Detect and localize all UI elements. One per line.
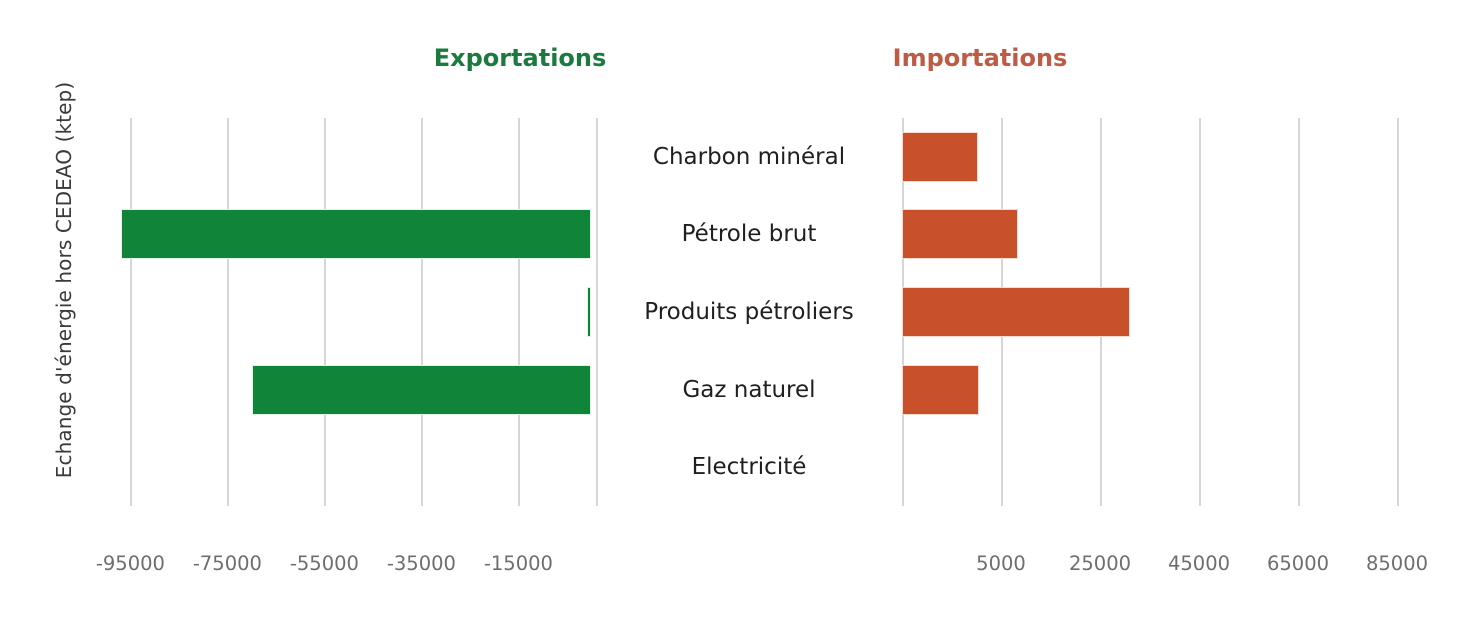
bar [902,132,978,182]
bar-row [111,273,596,351]
axis-tick-label: 85000 [1366,552,1428,575]
axis-tick-label: -75000 [193,552,262,575]
axis-tick-label: -55000 [290,552,359,575]
exportations-title: Exportations [340,44,700,72]
axis-tick-label: 65000 [1267,552,1329,575]
category-label: Pétrole brut [600,196,898,274]
bar-row [902,196,1397,274]
chart-figure: Echange d'énergie hors CEDEAO (ktep) Exp… [0,0,1471,630]
bar-row [902,118,1397,196]
x-axis-ticks-right: 500025000450006500085000 [902,552,1397,586]
y-axis-label: Echange d'énergie hors CEDEAO (ktep) [44,0,84,560]
bar [587,287,591,337]
bar-row [111,428,596,506]
bars-exportations [111,118,596,506]
bar [902,287,1130,337]
category-label-column: Charbon minéralPétrole brutProduits pétr… [600,118,898,506]
bars-importations [902,118,1397,506]
axis-tick-label: 25000 [1069,552,1131,575]
bar-row [902,273,1397,351]
bar [902,209,1018,259]
category-label: Charbon minéral [600,118,898,196]
category-label: Electricité [600,428,898,506]
axis-tick-label: 5000 [976,552,1026,575]
bar [252,365,592,415]
axis-tick-label: 45000 [1168,552,1230,575]
exportations-plot-area [111,118,596,506]
category-label: Produits pétroliers [600,273,898,351]
bar [902,365,979,415]
bar-row [902,351,1397,429]
gridline [1397,118,1399,506]
axis-tick-label: -35000 [387,552,456,575]
x-axis-ticks-left: -95000-75000-55000-35000-15000 [111,552,596,586]
bar [121,209,591,259]
importations-title: Importations [800,44,1160,72]
axis-tick-label: -15000 [484,552,553,575]
importations-plot-area [902,118,1397,506]
bar-row [902,428,1397,506]
bar-row [111,351,596,429]
bar-row [111,196,596,274]
gridline [596,118,598,506]
axis-tick-label: -95000 [96,552,165,575]
bar-row [111,118,596,196]
category-label: Gaz naturel [600,351,898,429]
